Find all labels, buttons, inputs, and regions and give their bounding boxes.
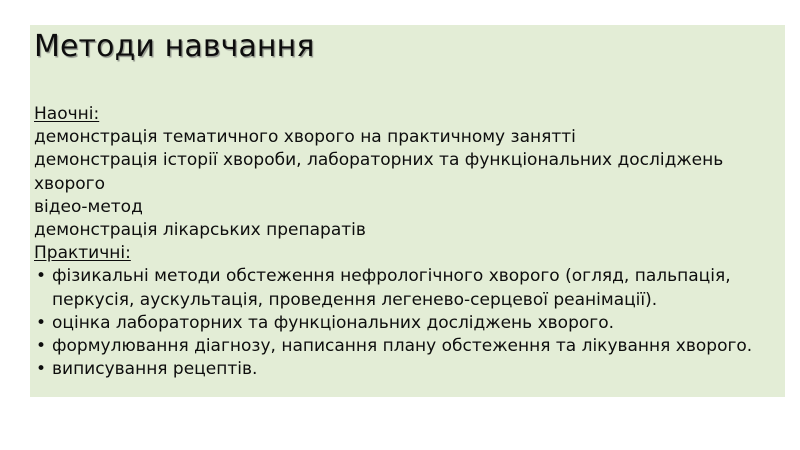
- list-item-label: формулювання діагнозу, написання плану о…: [52, 336, 752, 356]
- visual-method-line: демонстрація лікарських препаратів: [34, 219, 779, 242]
- bullet-dot-icon: •: [36, 265, 46, 288]
- bullet-dot-icon: •: [36, 312, 46, 335]
- list-item: • фізикальні методи обстеження нефрологі…: [34, 265, 779, 311]
- bullet-dot-icon: •: [36, 335, 46, 358]
- visual-method-line: демонстрація тематичного хворого на прак…: [34, 126, 779, 149]
- list-item-label: фізикальні методи обстеження нефрологічн…: [52, 266, 731, 309]
- list-item-label: оцінка лабораторних та функціональних до…: [52, 313, 614, 333]
- list-item: • оцінка лабораторних та функціональних …: [34, 312, 779, 335]
- section-practical-methods: Практичні: • фізикальні методи обстеженн…: [34, 242, 779, 381]
- list-item: • виписування рецептів.: [34, 358, 779, 381]
- page-title: Методи навчання: [34, 28, 315, 66]
- practical-methods-list: • фізикальні методи обстеження нефрологі…: [34, 265, 779, 381]
- list-item-label: виписування рецептів.: [52, 359, 257, 379]
- list-item: • формулювання діагнозу, написання плану…: [34, 335, 779, 358]
- bullet-dot-icon: •: [36, 358, 46, 381]
- visual-method-line: демонстрація історії хвороби, лабораторн…: [34, 149, 779, 195]
- section-heading-visual: Наочні:: [34, 103, 779, 126]
- slide-panel: Методи навчання Наочні: демонстрація тем…: [30, 25, 785, 397]
- visual-method-line: відео-метод: [34, 196, 779, 219]
- section-visual-methods: Наочні: демонстрація тематичного хворого…: [34, 103, 779, 242]
- slide-body: Наочні: демонстрація тематичного хворого…: [34, 103, 779, 381]
- section-heading-practical: Практичні:: [34, 242, 779, 265]
